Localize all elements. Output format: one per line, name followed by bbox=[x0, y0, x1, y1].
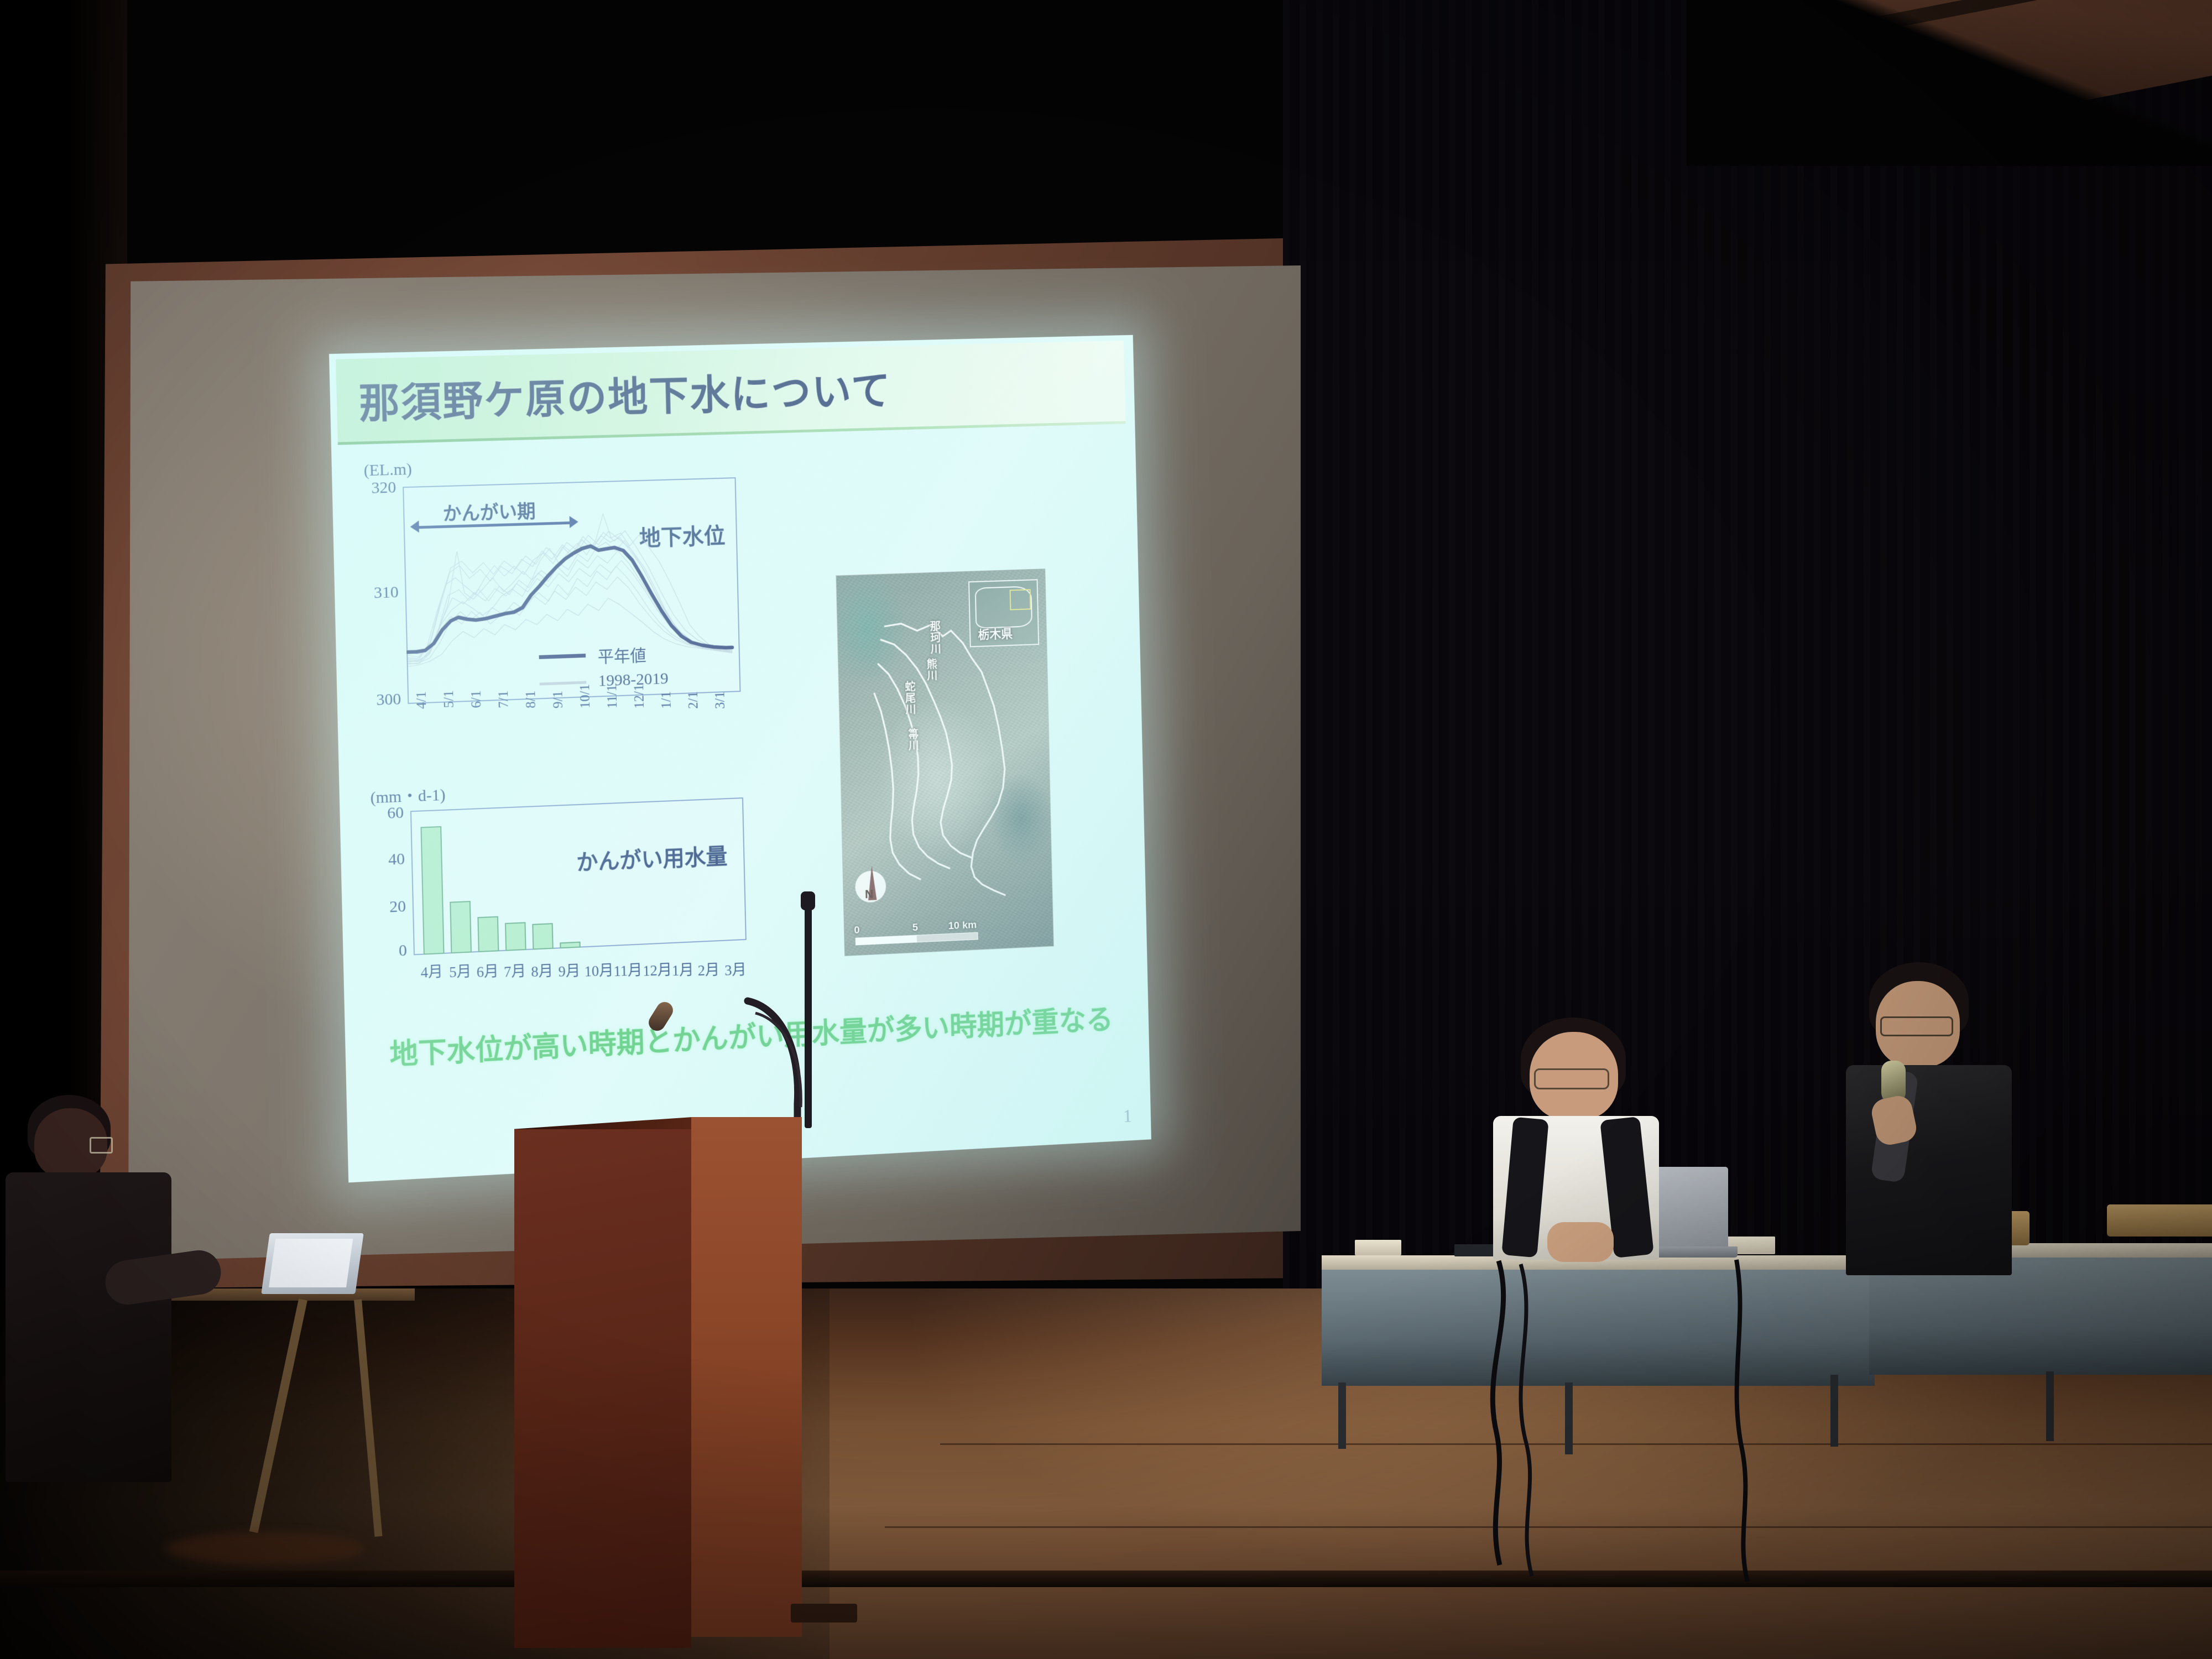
map-label-hokigawa: 箒川 bbox=[905, 728, 921, 752]
scale-tick-0: 0 bbox=[854, 925, 860, 937]
bar-chart-series-title: かんがい用水量 bbox=[576, 838, 728, 877]
line-xtick-10: 2/1 bbox=[686, 691, 701, 709]
speaker-glasses-icon bbox=[1880, 1016, 1953, 1036]
slide-title: 那須野ケ原の地下水について bbox=[336, 358, 892, 430]
line-xtick-4: 8/1 bbox=[524, 691, 539, 709]
podium-side-panel bbox=[691, 1117, 802, 1637]
operator-glasses-icon bbox=[90, 1137, 113, 1154]
line-ytick-320: 320 bbox=[357, 478, 396, 498]
line-xtick-9: 1/1 bbox=[659, 691, 675, 709]
legend-label-mean: 平年値 bbox=[597, 641, 646, 667]
slide-page-number: 1 bbox=[1123, 1106, 1133, 1127]
bar-xtick-8: 12月 bbox=[643, 958, 672, 980]
bar-xtick-11: 3月 bbox=[724, 957, 747, 979]
bar-ytick-60: 60 bbox=[365, 804, 404, 824]
podium-front-panel bbox=[514, 1129, 691, 1648]
bar-xtick-0: 4月 bbox=[420, 959, 443, 982]
map-label-nakagawa: 那珂川 bbox=[926, 620, 942, 655]
podium bbox=[514, 1117, 802, 1648]
line-xtick-2: 6/1 bbox=[469, 690, 484, 708]
bar-ytick-0: 0 bbox=[368, 941, 407, 962]
line-ytick-310: 310 bbox=[360, 583, 399, 603]
line-xtick-6: 10/1 bbox=[578, 684, 593, 709]
bar-ytick-20: 20 bbox=[367, 897, 406, 917]
ceiling-shadow bbox=[1687, 0, 2212, 166]
line-xtick-1: 5/1 bbox=[441, 690, 457, 708]
panel-table-leg-4 bbox=[2046, 1371, 2054, 1441]
bar-xtick-10: 2月 bbox=[697, 958, 719, 980]
table-papers-left bbox=[1355, 1240, 1401, 1255]
study-area-box bbox=[1010, 589, 1031, 610]
line-xtick-5: 9/1 bbox=[551, 691, 566, 709]
person-speaker bbox=[1841, 962, 2024, 1272]
bar-8gatsu bbox=[532, 923, 553, 950]
line-xtick-11: 3/1 bbox=[713, 691, 728, 709]
mic-stand-base bbox=[791, 1604, 857, 1623]
bar-xtick-2: 6月 bbox=[476, 959, 499, 982]
prefecture-inset: 栃木県 bbox=[968, 579, 1039, 647]
line-chart-curves bbox=[403, 477, 738, 702]
operator-laptop-document bbox=[269, 1239, 353, 1287]
bar-xtick-7: 11月 bbox=[613, 958, 643, 980]
bar-xtick-1: 5月 bbox=[449, 959, 472, 982]
stage-edge bbox=[0, 1571, 2212, 1587]
compass-north-label: N bbox=[865, 887, 874, 901]
map-label-kumagawa: 熊川 bbox=[923, 658, 939, 681]
line-xtick-3: 7/1 bbox=[496, 690, 512, 708]
historical-range-lines bbox=[405, 510, 733, 667]
bar-5gatsu bbox=[450, 901, 472, 953]
bar-xtick-4: 8月 bbox=[531, 959, 554, 982]
line-xtick-7: 11/1 bbox=[605, 685, 620, 709]
scale-tick-10: 10 km bbox=[948, 919, 977, 932]
bar-6gatsu bbox=[477, 916, 499, 952]
person-moderator bbox=[1477, 1018, 1709, 1272]
person-av-operator bbox=[6, 1084, 188, 1582]
stage-curtain bbox=[1283, 0, 2212, 1355]
line-ytick-300: 300 bbox=[362, 690, 401, 710]
operator-laptop-screen bbox=[261, 1233, 363, 1294]
chair-right-2 bbox=[2107, 1204, 2212, 1237]
line-xtick-8: 12/1 bbox=[632, 684, 648, 709]
operator-torso bbox=[6, 1172, 171, 1482]
bar-xtick-3: 7月 bbox=[504, 959, 526, 982]
moderator-glasses-icon bbox=[1534, 1068, 1609, 1089]
bar-7gatsu bbox=[505, 922, 526, 951]
bar-4gatsu bbox=[420, 826, 444, 955]
map-label-sabigawa: 蛇尾川 bbox=[901, 681, 917, 716]
bar-xtick-9: 1月 bbox=[672, 958, 694, 980]
scale-tick-5: 5 bbox=[912, 922, 919, 934]
table-cables bbox=[1449, 1255, 1836, 1587]
slide-title-band: 那須野ケ原の地下水について bbox=[336, 341, 1125, 442]
moderator-hands bbox=[1547, 1222, 1614, 1262]
bar-9gatsu bbox=[560, 942, 581, 949]
bar-xtick-6: 10月 bbox=[584, 958, 614, 981]
inset-label: 栃木県 bbox=[978, 624, 1013, 643]
bar-xtick-5: 9月 bbox=[558, 958, 581, 980]
panel-table-leg-1 bbox=[1338, 1383, 1346, 1449]
microphone-stand-right-clamp bbox=[801, 891, 815, 910]
line-xtick-0: 4/1 bbox=[414, 691, 430, 709]
line-chart-ylabel: (EL.m) bbox=[363, 460, 412, 480]
operator-desk-shadow bbox=[166, 1532, 365, 1565]
auditorium-scene: 那須野ケ原の地下水について (EL.m) 320 310 300 かんがい期 地… bbox=[0, 0, 2212, 1659]
nasunogahara-map: 那珂川 熊川 蛇尾川 箒川 栃木県 N 0 5 10 km bbox=[836, 568, 1054, 956]
bar-ytick-40: 40 bbox=[366, 850, 405, 870]
speaker-jacket bbox=[1846, 1065, 2012, 1275]
